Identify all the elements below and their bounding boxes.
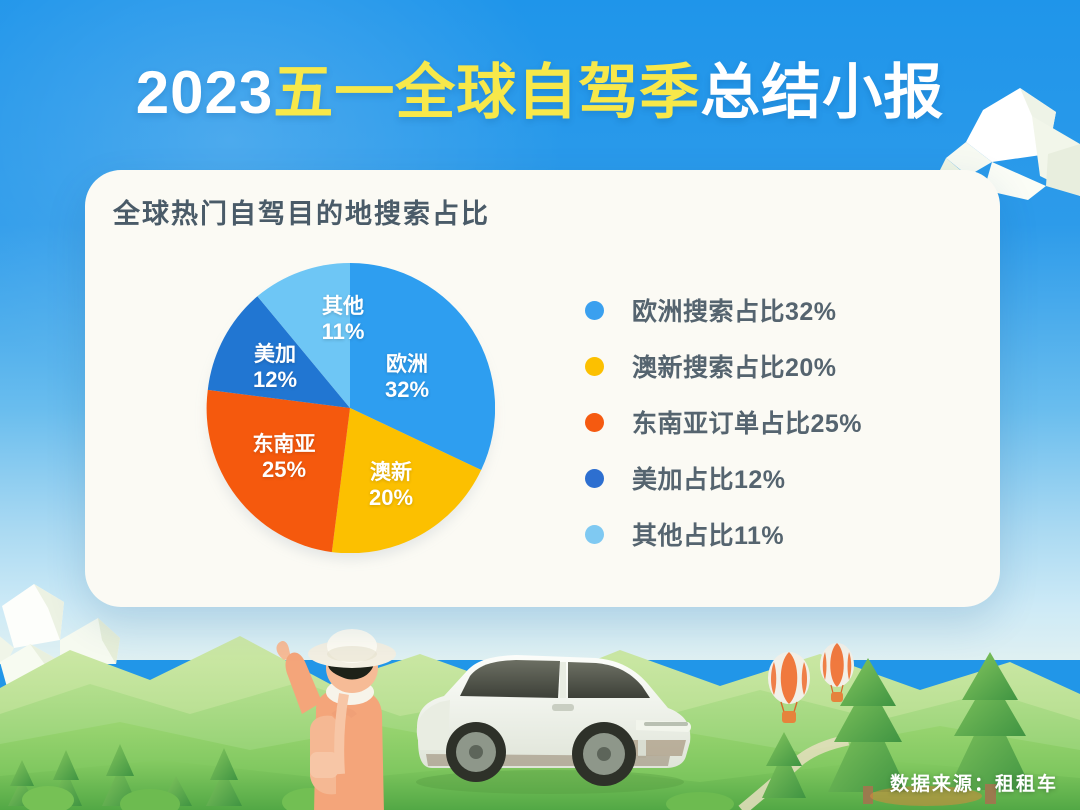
legend-label: 其他占比11% (632, 516, 784, 552)
legend-label: 澳新搜索占比20% (632, 348, 837, 384)
legend-item-usca[interactable]: 美加占比12% (585, 450, 965, 506)
hot-air-balloon-icon (766, 650, 812, 726)
legend-label: 美加占比12% (632, 460, 786, 496)
infographic-canvas: 2023五一全球自驾季总结小报 (0, 0, 1080, 810)
pie-label-europe: 欧洲 32% (368, 352, 446, 402)
chart-legend: 欧洲搜索占比32% 澳新搜索占比20% 东南亚订单占比25% 美加占比12% 其… (585, 282, 965, 562)
legend-dot-icon (585, 301, 604, 320)
legend-dot-icon (585, 413, 604, 432)
title-suffix: 总结小报 (700, 59, 944, 126)
hot-air-balloon-small-icon (818, 641, 856, 705)
legend-dot-icon (585, 357, 604, 376)
data-source-label: 数据来源：租租车 (890, 769, 1058, 796)
pie-label-anz: 澳新 20% (352, 460, 430, 510)
legend-label: 欧洲搜索占比32% (632, 292, 837, 328)
pie-label-sea: 东南亚 25% (238, 432, 330, 482)
legend-item-anz[interactable]: 澳新搜索占比20% (585, 338, 965, 394)
legend-dot-icon (585, 525, 604, 544)
legend-item-other[interactable]: 其他占比11% (585, 506, 965, 562)
pie-label-other: 其他 11% (304, 294, 382, 344)
legend-item-europe[interactable]: 欧洲搜索占比32% (585, 282, 965, 338)
legend-dot-icon (585, 469, 604, 488)
suv-car-illustration (400, 636, 700, 796)
page-title: 2023五一全球自驾季总结小报 (0, 58, 1080, 128)
legend-item-sea[interactable]: 东南亚订单占比25% (585, 394, 965, 450)
legend-label: 东南亚订单占比25% (632, 404, 862, 440)
title-year: 2023 (136, 59, 273, 126)
title-highlight: 五一全球自驾季 (273, 59, 700, 126)
traveler-character-illustration (262, 624, 412, 810)
pie-label-usca: 美加 12% (236, 342, 314, 392)
card-heading: 全球热门自驾目的地搜索占比 (113, 192, 490, 231)
stat-card: 全球热门自驾目的地搜索占比 欧洲 32% 澳新 (85, 170, 1000, 607)
pie-chart: 欧洲 32% 澳新 20% 东南亚 25% 美加 12% 其他 11% (200, 260, 500, 560)
